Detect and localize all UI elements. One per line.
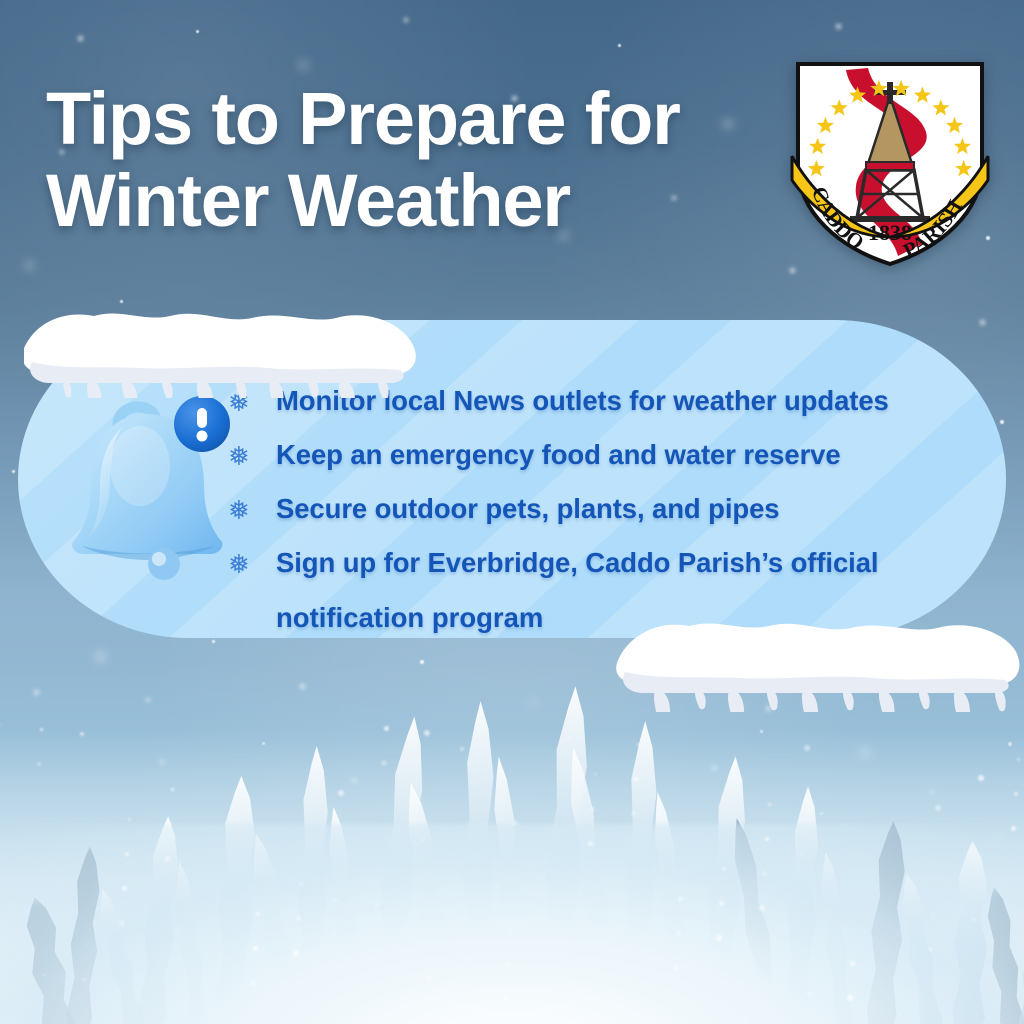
page-title: Tips to Prepare for Winter Weather [46,78,786,242]
frost-speckle [119,920,125,926]
frost-speckle [463,993,466,996]
frost-speckle [768,803,771,806]
frost-speckle [762,871,767,876]
frost-speckle [765,837,769,841]
tips-list: ❅Monitor local News outlets for weather … [228,381,988,637]
frost-speckle [512,820,518,826]
snow-dot [12,470,15,473]
frost-base-glow [0,824,1024,1024]
frost-speckle [165,856,170,861]
frost-speckle [424,730,430,736]
frost-speckle [722,867,726,871]
frost-speckle [86,944,88,946]
frost-speckle [253,946,258,951]
snow-bank-top [24,296,424,398]
snow-dot [212,640,215,643]
frost-speckle [256,912,260,916]
frost-speckle [935,805,941,811]
frost-speckle [43,974,45,976]
frost-speckle [804,745,810,751]
notification-bell-icon [52,378,242,593]
frost-speckle [171,788,174,791]
frost-speckle [335,899,337,901]
tip-text: Secure outdoor pets, plants, and pipes [276,489,780,528]
snow-dot [26,262,33,269]
frost-speckle [421,839,423,841]
frost-speckle [378,869,380,871]
snow-dot [836,24,841,29]
frost-speckle [844,824,846,826]
frost-speckle [1017,758,1020,761]
frost-speckle [640,989,642,991]
snow-dot [404,18,408,22]
frost-speckle [338,790,344,796]
caddo-parish-seal: 1838 CADDO PARISH [790,58,990,270]
frost-speckle [972,918,975,921]
frost-speckle [637,743,640,746]
frost-speckle [128,818,131,821]
frost-speckle [466,959,468,961]
tip-text: Sign up for Everbridge, Caddo Parish’s o… [276,543,878,582]
frost-speckle [375,903,378,906]
frost-speckle [978,775,984,781]
frost-speckle [296,916,301,921]
frost-speckle [506,963,509,966]
title-line-1: Tips to Prepare for [46,78,786,160]
ice-crystal-photo [0,664,1024,1024]
frost-speckle [83,978,86,981]
frost-speckle [1011,826,1016,831]
snow-dot [96,652,105,661]
snow-dot [618,44,621,47]
frost-speckle [125,852,129,856]
frost-speckle [37,762,41,766]
frost-speckle [807,991,812,996]
snowflake-icon: ❅ [228,435,276,475]
frost-speckle [673,965,679,971]
frost-speckle [850,961,855,966]
frost-speckle [676,931,681,936]
frost-speckle [716,935,722,941]
title-line-2: Winter Weather [46,160,786,242]
frost-speckle [588,841,593,846]
snow-bank-bottom [613,608,1024,712]
frost-speckle [122,886,127,891]
tip-item: ❅Secure outdoor pets, plants, and pipes [228,489,988,536]
frost-speckle [594,773,597,776]
frost-speckle [427,976,432,981]
frost-speckle [975,884,977,886]
snowflake-icon: ❅ [228,543,276,583]
winter-weather-poster: Tips to Prepare for Winter Weather [0,0,1024,1024]
frost-speckle [0,724,2,726]
frost-speckle [503,997,507,1001]
frost-speckle [247,809,249,811]
icicles-bottom [654,690,1006,712]
frost-speckle [168,822,172,826]
snow-dot [300,62,307,69]
frost-speckle [847,995,853,1001]
tip-item: ❅Keep an emergency food and water reserv… [228,435,988,482]
frost-speckle [929,948,932,951]
frost-speckle [332,933,335,936]
tip-text: Keep an emergency food and water reserve [276,435,841,474]
frost-speckle [460,747,464,751]
frost-speckle [250,980,256,986]
frost-speckle [631,811,636,816]
frost-speckle [1014,792,1018,796]
frost-speckle [80,732,84,736]
frost-speckle [932,914,934,916]
frost-speckle [679,897,683,901]
snow-dot [196,30,199,33]
frost-speckle [509,929,511,931]
frost-speckle [299,882,303,886]
frost-speckle [759,905,765,911]
frost-speckle [634,777,638,781]
frost-speckle [40,728,43,731]
frost-speckle [801,854,803,856]
frost-speckle [384,726,389,731]
snowflake-icon: ❅ [228,489,276,529]
snow-dot [78,36,83,41]
tip-item: ❅Sign up for Everbridge, Caddo Parish’s … [228,543,988,590]
frost-speckle [591,807,595,811]
frost-speckle [293,950,299,956]
frost-speckle [381,760,387,766]
frost-speckle [719,901,724,906]
